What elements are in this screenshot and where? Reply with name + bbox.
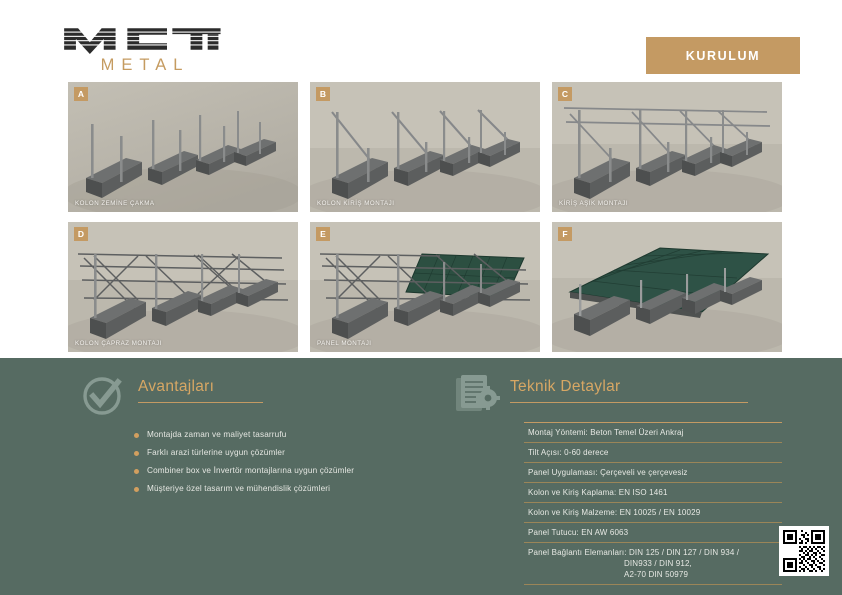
panel-step-c[interactable]: C KİRİŞ AŞIK MONTAJI bbox=[552, 82, 782, 212]
table-row: Montaj Yöntemi: Beton Temel Üzeri Ankraj bbox=[524, 422, 782, 443]
render-kolon-capraz-montaji bbox=[68, 222, 298, 352]
panel-caption-c: KİRİŞ AŞIK MONTAJI bbox=[559, 200, 628, 207]
render-panel-montaji bbox=[310, 222, 540, 352]
panel-caption-d: KOLON ÇAPRAZ MONTAJI bbox=[75, 340, 162, 347]
panel-step-e[interactable]: E PANEL MONTAJI bbox=[310, 222, 540, 352]
logo-subtitle: METAL bbox=[62, 56, 222, 75]
panel-step-f[interactable]: F bbox=[552, 222, 782, 352]
technical-header: Teknik Detaylar bbox=[452, 376, 782, 418]
list-item: Müşteriye özel tasarım ve mühendislik çö… bbox=[134, 480, 420, 498]
bullet-dot-icon bbox=[134, 469, 139, 474]
qr-code[interactable] bbox=[779, 526, 829, 576]
render-tamamlanmis-sistem bbox=[552, 222, 782, 352]
table-row: Tilt Açısı: 0-60 derece bbox=[524, 443, 782, 463]
panel-step-b[interactable]: B KOLON KİRİŞ MONTAJI bbox=[310, 82, 540, 212]
spec-text: Panel Uygulaması: Çerçeveli ve çerçevesi… bbox=[528, 468, 688, 477]
panel-caption-e: PANEL MONTAJI bbox=[317, 340, 372, 347]
spec-text: Kolon ve Kiriş Malzeme: EN 10025 / EN 10… bbox=[528, 508, 700, 517]
technical-spec-list: Montaj Yöntemi: Beton Temel Üzeri Ankraj… bbox=[452, 422, 782, 585]
advantages-list: Montajda zaman ve maliyet tasarrufu Fark… bbox=[80, 426, 420, 498]
panel-badge-e: E bbox=[316, 227, 330, 241]
check-circle-icon bbox=[80, 373, 130, 419]
spec-text: Tilt Açısı: 0-60 derece bbox=[528, 448, 609, 457]
page-header: METAL KURULUM bbox=[0, 0, 842, 82]
spec-text: Montaj Yöntemi: Beton Temel Üzeri Ankraj bbox=[528, 428, 684, 437]
advantages-header: Avantajları bbox=[80, 376, 420, 418]
render-kolon-zemine-cakma bbox=[68, 82, 298, 212]
panel-caption-a: KOLON ZEMİNE ÇAKMA bbox=[75, 200, 154, 207]
advantage-text: Montajda zaman ve maliyet tasarrufu bbox=[147, 430, 287, 439]
technical-title: Teknik Detaylar bbox=[510, 376, 782, 396]
advantage-text: Combiner box ve İnvertör montajlarına uy… bbox=[147, 466, 354, 475]
spec-text-cont: DIN933 / DIN 912, bbox=[528, 558, 782, 569]
installation-step-grid: A KOLON ZEMİNE ÇAKMA bbox=[68, 82, 782, 352]
table-row: Panel Uygulaması: Çerçeveli ve çerçevesi… bbox=[524, 463, 782, 483]
panel-badge-a: A bbox=[74, 87, 88, 101]
panel-caption-b: KOLON KİRİŞ MONTAJI bbox=[317, 200, 394, 207]
render-kolon-kiris-montaji bbox=[310, 82, 540, 212]
advantages-title: Avantajları bbox=[138, 376, 420, 396]
list-item: Montajda zaman ve maliyet tasarrufu bbox=[134, 426, 420, 444]
list-item: Farklı arazi türlerine uygun çözümler bbox=[134, 444, 420, 462]
logo-mct-mark bbox=[62, 24, 223, 54]
bottom-info-band: Avantajları Montajda zaman ve maliyet ta… bbox=[0, 358, 842, 595]
spec-text: Panel Tutucu: EN AW 6063 bbox=[528, 528, 628, 537]
panel-badge-f: F bbox=[558, 227, 572, 241]
spec-text: Kolon ve Kiriş Kaplama: EN ISO 1461 bbox=[528, 488, 668, 497]
brand-logo: METAL bbox=[62, 24, 222, 75]
table-row: Panel Tutucu: EN AW 6063 bbox=[524, 523, 782, 543]
advantage-text: Müşteriye özel tasarım ve mühendislik çö… bbox=[147, 484, 330, 493]
bullet-dot-icon bbox=[134, 433, 139, 438]
list-item: Combiner box ve İnvertör montajlarına uy… bbox=[134, 462, 420, 480]
advantage-text: Farklı arazi türlerine uygun çözümler bbox=[147, 448, 285, 457]
panel-step-d[interactable]: D KOLON ÇAPRAZ MONTAJI bbox=[68, 222, 298, 352]
technical-rule bbox=[510, 402, 748, 403]
bullet-dot-icon bbox=[134, 487, 139, 492]
kurulum-badge: KURULUM bbox=[646, 37, 800, 74]
render-kiris-asik-montaji bbox=[552, 82, 782, 212]
panel-badge-c: C bbox=[558, 87, 572, 101]
table-row: Kolon ve Kiriş Malzeme: EN 10025 / EN 10… bbox=[524, 503, 782, 523]
table-row: Kolon ve Kiriş Kaplama: EN ISO 1461 bbox=[524, 483, 782, 503]
technical-section: Teknik Detaylar Montaj Yöntemi: Beton Te… bbox=[452, 376, 782, 585]
panel-step-a[interactable]: A KOLON ZEMİNE ÇAKMA bbox=[68, 82, 298, 212]
advantages-rule bbox=[138, 402, 263, 403]
table-row: Panel Bağlantı Elemanları: DIN 125 / DIN… bbox=[524, 543, 782, 585]
panel-badge-d: D bbox=[74, 227, 88, 241]
document-gear-icon bbox=[452, 373, 502, 419]
qr-code-image bbox=[783, 530, 825, 572]
spec-text: Panel Bağlantı Elemanları: DIN 125 / DIN… bbox=[528, 548, 739, 557]
panel-badge-b: B bbox=[316, 87, 330, 101]
advantages-section: Avantajları Montajda zaman ve maliyet ta… bbox=[80, 376, 420, 498]
bullet-dot-icon bbox=[134, 451, 139, 456]
spec-text-cont: A2-70 DIN 50979 bbox=[528, 569, 782, 580]
